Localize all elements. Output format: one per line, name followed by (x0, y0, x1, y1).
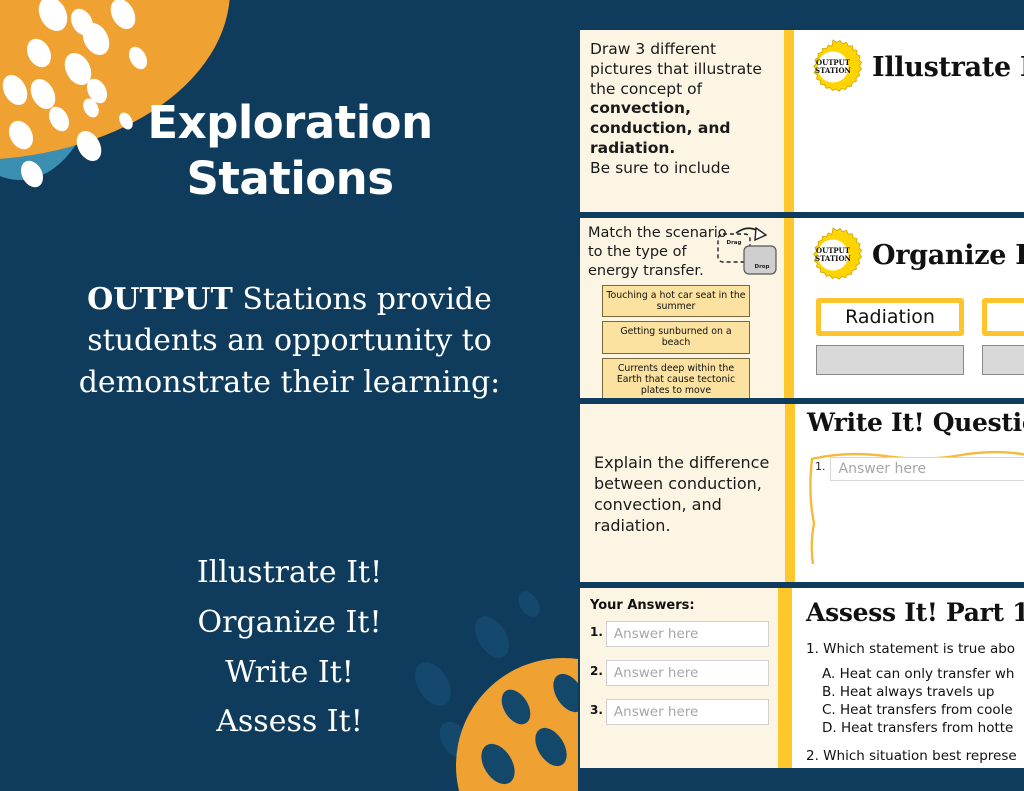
output-station-badge-icon: OUTPUT STATION (804, 38, 862, 96)
answer-number: 3. (590, 699, 603, 717)
slide-organize-it[interactable]: Match the scenario to the type of energy… (580, 218, 1024, 398)
station-list-item: Illustrate It! (22, 548, 557, 598)
scenario-card-list: Touching a hot car seat in the summer Ge… (588, 285, 778, 398)
answers-heading: Your Answers: (590, 598, 770, 613)
slide-accent-bar (784, 30, 794, 212)
slide-title: Organize It! (872, 240, 1024, 271)
question-text: 1. Which statement is true abo (792, 627, 1024, 657)
answer-input[interactable]: Answer here (606, 660, 769, 686)
answer-number: 2. (590, 660, 603, 678)
category-column: Co (982, 298, 1024, 375)
badge-line-2: STATION (815, 66, 852, 75)
answer-row: 1. Answer here (815, 457, 1024, 481)
slide-header: OUTPUT STATION Illustrate It! (794, 30, 1024, 96)
answer-row: 3. Answer here (590, 699, 770, 725)
slide-stack: Draw 3 different pictures that illustrat… (580, 0, 1024, 791)
category-columns: Radiation Co (794, 284, 1024, 375)
answer-number: 1. (815, 457, 826, 473)
scenario-card[interactable]: Currents deep within the Earth that caus… (602, 358, 750, 398)
answer-row: 2. Answer here (590, 660, 770, 686)
slide-prompt-text: Explain the difference between conductio… (594, 452, 777, 536)
station-list: Illustrate It! Organize It! Write It! As… (22, 548, 557, 747)
scenario-card[interactable]: Getting sunburned on a beach (602, 321, 750, 354)
option-list: A. Heat can only transfer wh B. Heat alw… (792, 657, 1024, 737)
category-column: Radiation (816, 298, 964, 375)
answer-input[interactable]: Answer here (606, 621, 769, 647)
svg-text:Drop: Drop (755, 264, 770, 270)
scenario-card[interactable]: Touching a hot car seat in the summer (602, 285, 750, 318)
page-title: Exploration Stations (30, 95, 550, 207)
slide-title: Illustrate It! (872, 52, 1024, 83)
slide-prompt-panel: Match the scenario to the type of energy… (580, 218, 784, 398)
prompt-plain-a: Draw 3 different pictures that illustrat… (590, 40, 762, 98)
svg-text:Drag: Drag (727, 240, 742, 246)
option-item[interactable]: B. Heat always travels up (822, 683, 1024, 701)
slide-assess-it[interactable]: Your Answers: 1. Answer here 2. Answer h… (580, 588, 1024, 768)
category-label[interactable]: Radiation (816, 298, 964, 336)
station-list-item: Organize It! (22, 598, 557, 648)
answer-region: 1. Answer here (807, 445, 1024, 565)
option-item[interactable]: C. Heat transfers from coole (822, 701, 1024, 719)
category-label[interactable]: Co (982, 298, 1024, 336)
station-list-item: Write It! (22, 648, 557, 698)
slide-title: Assess It! Part 1 (792, 588, 1024, 627)
slide-header: OUTPUT STATION Organize It! (794, 218, 1024, 284)
slide-accent-bar (785, 404, 795, 582)
drag-and-drop-icon: Drag Drop (716, 224, 782, 280)
slide-content-panel: Assess It! Part 1 1. Which statement is … (792, 588, 1024, 768)
intro-paragraph: OUTPUT Stations provide students an oppo… (22, 279, 557, 403)
option-item[interactable]: A. Heat can only transfer wh (822, 665, 1024, 683)
prompt-bold: convection, conduction, and radiation. (590, 99, 730, 157)
category-drop-zone[interactable] (816, 345, 964, 375)
slide-content-panel: Write It! Question 1. Answer here (795, 404, 1024, 582)
page-title-line-1: Exploration (30, 95, 550, 151)
slide-prompt-panel: Draw 3 different pictures that illustrat… (580, 30, 784, 212)
left-panel: Exploration Stations OUTPUT Stations pro… (0, 0, 578, 791)
slide-prompt-panel: Explain the difference between conductio… (580, 404, 785, 582)
category-drop-zone[interactable] (982, 345, 1024, 375)
page-title-line-2: Stations (30, 151, 550, 207)
slide-content-panel: OUTPUT STATION Organize It! Radiation Co (794, 218, 1024, 398)
answer-input[interactable]: Answer here (606, 699, 769, 725)
output-station-badge-icon: OUTPUT STATION (804, 226, 862, 284)
answer-number: 1. (590, 621, 603, 639)
slide-write-it[interactable]: Explain the difference between conductio… (580, 404, 1024, 582)
prompt-plain-b: Be sure to include (590, 159, 730, 177)
slide-accent-bar (784, 218, 794, 398)
slide-prompt-text: Draw 3 different pictures that illustrat… (590, 40, 776, 179)
slide-content-panel: OUTPUT STATION Illustrate It! (794, 30, 1024, 212)
answer-input[interactable]: Answer here (830, 457, 1024, 481)
option-item[interactable]: D. Heat transfers from hotte (822, 719, 1024, 737)
question-text: 2. Which situation best represe (792, 737, 1024, 764)
answer-row: 1. Answer here (590, 621, 770, 647)
slide-accent-bar (778, 588, 792, 768)
svg-text:STATION: STATION (815, 254, 852, 263)
slide-illustrate-it[interactable]: Draw 3 different pictures that illustrat… (580, 30, 1024, 212)
slide-answers-panel: Your Answers: 1. Answer here 2. Answer h… (580, 588, 778, 768)
station-list-item: Assess It! (22, 697, 557, 747)
intro-bold-term: OUTPUT (87, 282, 233, 317)
slide-title: Write It! Question (795, 404, 1024, 437)
